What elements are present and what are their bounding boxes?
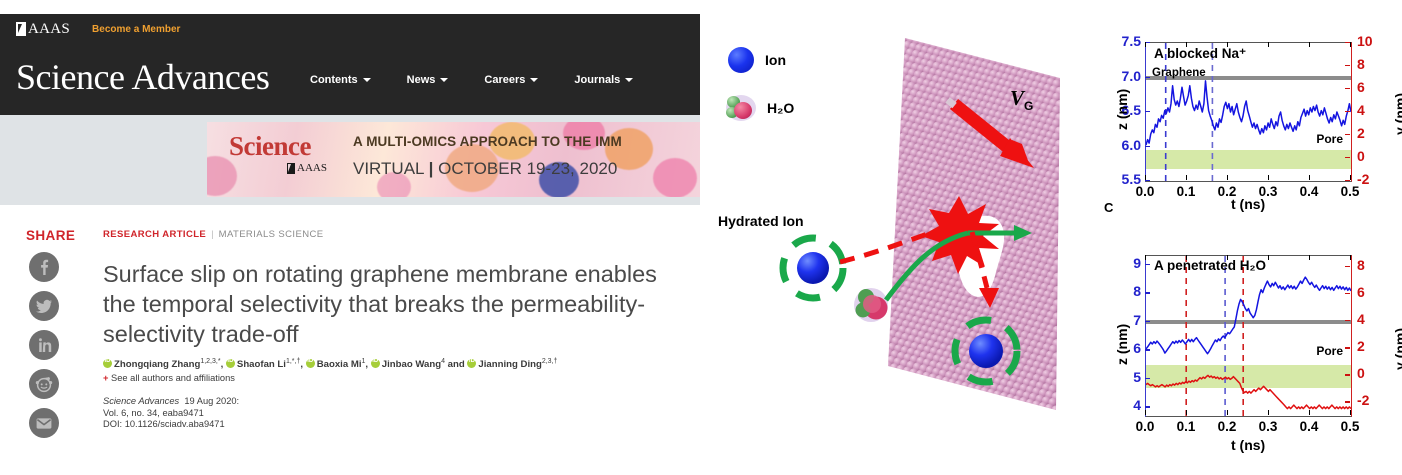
vg-subscript: G — [1024, 99, 1033, 113]
nav-item-journals[interactable]: Journals — [574, 74, 633, 86]
ad-separator: | — [429, 159, 434, 178]
kicker-divider: | — [211, 229, 213, 240]
ad-virtual-text: VIRTUAL — [353, 159, 424, 178]
orcid-icon[interactable] — [306, 359, 315, 368]
nav-label-news: News — [407, 74, 436, 86]
legend-label-ion: Ion — [765, 52, 786, 68]
ad-aaas-logo: AAAS — [287, 162, 327, 174]
vg-symbol: V — [1010, 86, 1024, 110]
nav-label-journals: Journals — [574, 74, 620, 86]
article-title: Surface slip on rotating graphene membra… — [103, 259, 663, 349]
author-separator: , — [365, 359, 370, 370]
author-entry[interactable]: Zhongqiang Zhang1,2,3,* — [103, 359, 221, 370]
citation-pub-date: 19 Aug 2020: — [184, 396, 239, 406]
plot-title-top: A blocked Na⁺ — [1154, 46, 1246, 62]
trajectory-curves-bottom — [1146, 256, 1351, 416]
plot-panel-penetrated-h2o: A penetrated H₂O Pore 456789-2024680.00.… — [1100, 215, 1402, 470]
author-separator: and — [445, 359, 467, 370]
chevron-down-icon — [530, 78, 538, 82]
blue-ion-sphere-icon — [728, 47, 754, 73]
nav-item-careers[interactable]: Careers — [484, 74, 538, 86]
oxygen-atom-icon — [734, 102, 752, 119]
author-name: Jianning Ding — [478, 359, 541, 370]
author-entry[interactable]: Jinbao Wang4 — [371, 359, 445, 370]
ad-subline: VIRTUAL | OCTOBER 19-23, 2020 — [353, 159, 617, 179]
citation-journal-name: Science Advances — [103, 396, 179, 406]
utility-bar: AAAS Become a Member — [0, 14, 700, 44]
conference-banner-ad[interactable]: Science AAAS A MULTI-OMICS APPROACH TO T… — [207, 122, 700, 197]
hydrated-ion-left — [783, 238, 843, 298]
social-share-buttons — [29, 252, 59, 438]
author-name: Shaofan Li — [237, 359, 286, 370]
y-axis-label-left-bottom: z (nm) — [1114, 324, 1130, 365]
main-navigation: Contents News Careers Journals — [310, 74, 633, 86]
masthead: Science Advances Contents News Careers J… — [0, 44, 700, 115]
see-all-authors-label: See all authors and affiliations — [111, 373, 235, 383]
plot-area-top: A blocked Na⁺ Graphene Pore — [1145, 42, 1352, 182]
legend-item-ion: Ion — [728, 47, 786, 73]
decorative-cell-blob — [653, 158, 697, 197]
plot-panel-blocked-na: A blocked Na⁺ Graphene Pore 5.56.06.57.0… — [1100, 0, 1402, 215]
author-name: Baoxia Mi — [317, 359, 362, 370]
author-list: Zhongqiang Zhang1,2,3,*, Shaofan Li1,*,†… — [103, 358, 693, 370]
aaas-logo-text: AAAS — [28, 21, 70, 38]
citation-doi[interactable]: DOI: 10.1126/sciadv.aba9471 — [103, 419, 225, 429]
x-axis-label-bottom: t (ns) — [1231, 437, 1265, 453]
site-brand-title[interactable]: Science Advances — [16, 56, 269, 98]
orcid-icon[interactable] — [467, 359, 476, 368]
orcid-icon[interactable] — [371, 359, 380, 368]
share-label: SHARE — [26, 228, 75, 243]
science-advances-webpage-screenshot: AAAS Become a Member Science Advances Co… — [0, 0, 700, 470]
panel-letter-c: C — [1104, 200, 1113, 215]
brand-advances-word: Advances — [131, 57, 269, 97]
author-affiliation-marker: 1,2,3,* — [200, 358, 220, 365]
plot-title-bottom: A penetrated H₂O — [1154, 258, 1266, 273]
y-axis-label-left-top: z (nm) — [1114, 89, 1130, 130]
email-icon[interactable] — [29, 408, 59, 438]
author-affiliation-marker: 1,*,† — [286, 358, 300, 365]
plot-title-top-text: A blocked Na⁺ — [1154, 46, 1246, 61]
reddit-icon[interactable] — [29, 369, 59, 399]
decorative-cell-blob — [207, 156, 237, 196]
gate-voltage-label: VG — [1010, 86, 1033, 113]
brand-science-word: Science — [16, 57, 124, 97]
become-a-member-link[interactable]: Become a Member — [92, 24, 180, 35]
orcid-icon[interactable] — [103, 359, 112, 368]
y-axis-label-right-top: y (nm) — [1392, 93, 1402, 135]
see-all-authors-link[interactable]: + See all authors and affiliations — [103, 373, 235, 383]
aaas-mark-icon — [16, 22, 26, 36]
ad-aaas-text: AAAS — [297, 162, 327, 174]
chevron-down-icon — [363, 78, 371, 82]
nav-label-careers: Careers — [484, 74, 525, 86]
legend-label-water: H₂O — [767, 100, 794, 116]
aaas-mark-icon — [287, 163, 295, 174]
graphene-membrane-schematic: Ion H₂O Hydrated Ion VG — [700, 0, 1100, 470]
trajectory-curves-top — [1146, 43, 1351, 181]
author-name: Zhongqiang Zhang — [114, 359, 200, 370]
linkedin-icon[interactable] — [29, 330, 59, 360]
simulation-trajectory-plots: A blocked Na⁺ Graphene Pore 5.56.06.57.0… — [1100, 0, 1402, 470]
water-molecule-icon — [726, 95, 756, 121]
nav-item-contents[interactable]: Contents — [310, 74, 371, 86]
article-citation-metadata: Science Advances 19 Aug 2020: Vol. 6, no… — [103, 396, 239, 431]
article-kicker: RESEARCH ARTICLE|MATERIALS SCIENCE — [103, 229, 323, 240]
kicker-article-type[interactable]: RESEARCH ARTICLE — [103, 229, 206, 240]
ad-science-wordmark: Science — [229, 131, 311, 162]
citation-volume: Vol. 6, no. 34, eaba9471 — [103, 408, 204, 418]
orcid-icon[interactable] — [226, 359, 235, 368]
plus-icon: + — [103, 373, 108, 383]
legend-item-water: H₂O — [726, 95, 794, 121]
chevron-down-icon — [625, 78, 633, 82]
nav-item-news[interactable]: News — [407, 74, 449, 86]
author-name: Jinbao Wang — [382, 359, 441, 370]
plot-area-bottom: A penetrated H₂O Pore — [1145, 255, 1352, 417]
author-entry[interactable]: Jianning Ding2,3,† — [467, 359, 557, 370]
chevron-down-icon — [440, 78, 448, 82]
author-separator: , — [300, 359, 305, 370]
y-axis-label-right-bottom: y (nm) — [1392, 328, 1402, 370]
pore-annotation-bottom: Pore — [1316, 344, 1343, 358]
author-affiliation-marker: 2,3,† — [542, 358, 558, 365]
plot-title-bottom-text: A penetrated H₂O — [1154, 258, 1266, 273]
pore-annotation-top: Pore — [1316, 132, 1343, 146]
author-entry[interactable]: Shaofan Li1,*,† — [226, 359, 300, 370]
author-entry[interactable]: Baoxia Mi1 — [306, 359, 366, 370]
kicker-subject[interactable]: MATERIALS SCIENCE — [219, 229, 324, 240]
nav-label-contents: Contents — [310, 74, 358, 86]
water-molecule-schematic — [854, 288, 888, 322]
aaas-logo[interactable]: AAAS — [16, 20, 70, 38]
facebook-icon[interactable] — [29, 252, 59, 282]
x-axis-label-top: t (ns) — [1231, 196, 1265, 212]
graphene-annotation-top: Graphene — [1152, 67, 1206, 79]
ad-dates-text: OCTOBER 19-23, 2020 — [438, 159, 617, 178]
twitter-icon[interactable] — [29, 291, 59, 321]
ad-headline: A MULTI-OMICS APPROACH TO THE IMM — [353, 134, 622, 149]
hydrated-ion-label: Hydrated Ion — [718, 213, 804, 229]
